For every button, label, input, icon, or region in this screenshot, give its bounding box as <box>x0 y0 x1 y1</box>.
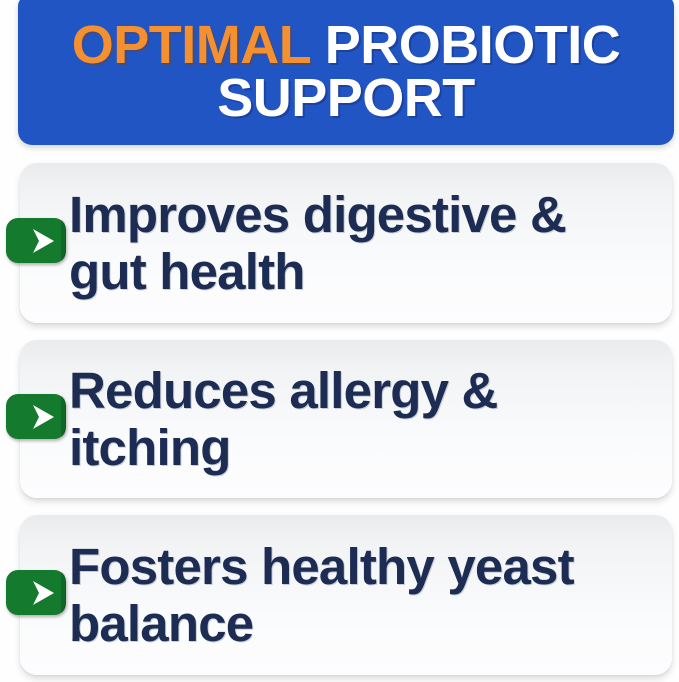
green-chevron-arrow-icon <box>6 570 66 615</box>
benefit-text: Fosters healthy yeast balance <box>69 538 646 652</box>
green-chevron-arrow-icon <box>6 218 66 263</box>
benefit-card: Improves digestive & gut health <box>20 163 672 323</box>
green-chevron-arrow-icon <box>6 394 66 439</box>
title-emphasis-word: OPTIMAL <box>72 15 311 75</box>
benefit-card: Fosters healthy yeast balance <box>20 515 672 675</box>
benefit-text: Reduces allergy & itching <box>69 362 646 476</box>
header-banner: OPTIMAL PROBIOTIC SUPPORT <box>18 0 674 145</box>
benefit-text: Improves digestive & gut health <box>69 186 646 300</box>
product-benefits-infographic: OPTIMAL PROBIOTIC SUPPORT Improves diges… <box>0 0 679 682</box>
benefit-card: Reduces allergy & itching <box>20 340 672 498</box>
page-title: OPTIMAL PROBIOTIC SUPPORT <box>32 19 660 125</box>
